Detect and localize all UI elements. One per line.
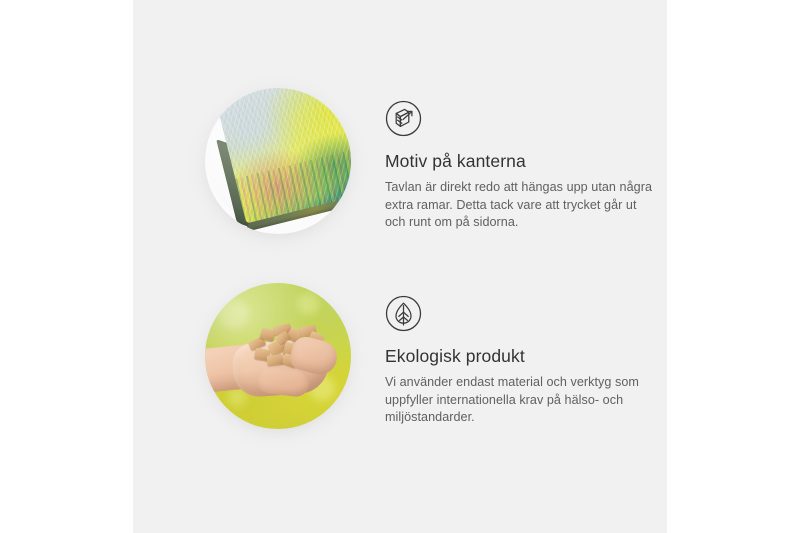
wood-chips-in-hands-photo-wrap (205, 283, 351, 429)
canvas-wrapped-edges-icon (385, 100, 422, 137)
product-feature-page: Motiv på kanterna Tavlan är direkt redo … (0, 0, 800, 533)
feature-text-column: Ekologisk produkt Vi använder endast mat… (385, 295, 657, 427)
canvas-print-corner-photo-wrap (205, 88, 351, 234)
feature-title: Motiv på kanterna (385, 151, 657, 172)
feature-description: Vi använder endast material och verktyg … (385, 374, 657, 427)
canvas-print-corner-photo (205, 88, 351, 234)
feature-text-column: Motiv på kanterna Tavlan är direkt redo … (385, 100, 657, 232)
content-panel: Motiv på kanterna Tavlan är direkt redo … (133, 0, 667, 533)
feature-title: Ekologisk produkt (385, 346, 657, 367)
feature-description: Tavlan är direkt redo att hängas upp uta… (385, 179, 657, 232)
canvas-print-block (215, 88, 351, 224)
bokeh-highlight (297, 293, 319, 315)
bokeh-highlight (219, 299, 249, 329)
wood-chip (267, 354, 284, 366)
wood-chips-in-hands-photo (205, 283, 351, 429)
leaf-icon (385, 295, 422, 332)
